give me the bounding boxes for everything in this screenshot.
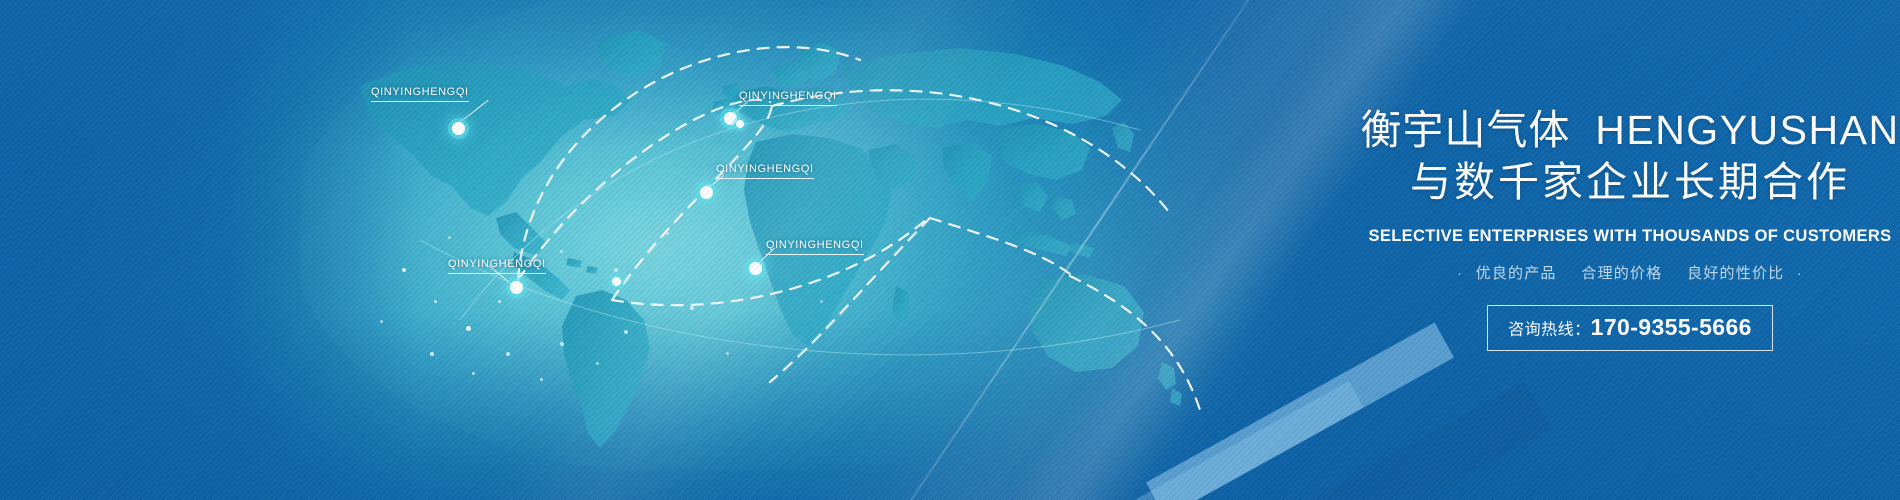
star-dot <box>820 300 823 303</box>
map-marker[interactable] <box>452 122 465 135</box>
star-dot <box>506 352 510 356</box>
map-marker[interactable] <box>700 186 713 199</box>
star-dot <box>434 300 437 303</box>
star-dot <box>466 326 471 331</box>
star-dot <box>596 362 599 365</box>
map-label-text: QINYINGHENGQI <box>371 86 469 98</box>
star-dot <box>402 268 406 272</box>
headline-line-2: 与数千家企业长期合作 <box>1280 158 1900 206</box>
star-dot <box>726 352 729 355</box>
hotline-box[interactable]: 咨询热线：170-9355-5666 <box>1487 305 1773 351</box>
headline-en: HENGYUSHAN <box>1595 107 1899 153</box>
map-label-text: QINYINGHENGQI <box>766 239 864 251</box>
star-dot <box>380 320 383 323</box>
star-dot <box>430 352 434 356</box>
tagline-separator-left: · <box>1450 265 1470 282</box>
world-map <box>300 0 1220 470</box>
map-label: QINYINGHENGQI <box>448 258 546 274</box>
map-label-rule <box>371 101 469 102</box>
headline-line-1: 衡宇山气体 HENGYUSHAN <box>1280 106 1900 154</box>
star-dot <box>690 306 694 310</box>
tagline-item-2: 合理的价格 <box>1581 265 1662 282</box>
map-marker[interactable] <box>736 120 744 128</box>
map-marker[interactable] <box>510 281 523 294</box>
tagline-separator-right: · <box>1790 265 1810 282</box>
tagline-item-1: 优良的产品 <box>1476 265 1557 282</box>
tagline-item-3: 良好的性价比 <box>1687 265 1784 282</box>
map-label-rule <box>448 273 546 274</box>
star-dot <box>560 342 564 346</box>
map-label: QINYINGHENGQI <box>739 90 837 106</box>
map-label-rule <box>766 254 864 255</box>
hero-banner: QINYINGHENGQI QINYINGHENGQI QINYINGHENGQ… <box>0 0 1900 500</box>
star-dot <box>498 300 501 303</box>
map-label: QINYINGHENGQI <box>371 86 469 102</box>
map-label: QINYINGHENGQI <box>766 239 864 255</box>
hotline-label: 咨询热线： <box>1508 321 1591 338</box>
star-dot <box>560 250 563 253</box>
map-label-text: QINYINGHENGQI <box>739 90 837 102</box>
map-label: QINYINGHENGQI <box>716 163 814 179</box>
map-label-rule <box>739 105 837 106</box>
tagline: · 优良的产品 合理的价格 良好的性价比 · <box>1280 262 1900 283</box>
map-label-rule <box>716 178 814 179</box>
map-marker[interactable] <box>612 277 621 286</box>
star-dot <box>614 268 618 272</box>
star-dot <box>448 236 451 239</box>
hotline-number: 170-9355-5666 <box>1591 314 1752 340</box>
map-label-text: QINYINGHENGQI <box>448 258 546 270</box>
star-dot <box>624 330 628 334</box>
star-dot <box>666 232 669 235</box>
map-marker[interactable] <box>749 262 762 275</box>
subtitle-english: SELECTIVE ENTERPRISES WITH THOUSANDS OF … <box>1280 227 1900 246</box>
map-label-text: QINYINGHENGQI <box>716 163 814 175</box>
star-dot <box>472 372 475 375</box>
star-dot <box>540 378 543 381</box>
headline-cn: 衡宇山气体 <box>1360 107 1570 153</box>
